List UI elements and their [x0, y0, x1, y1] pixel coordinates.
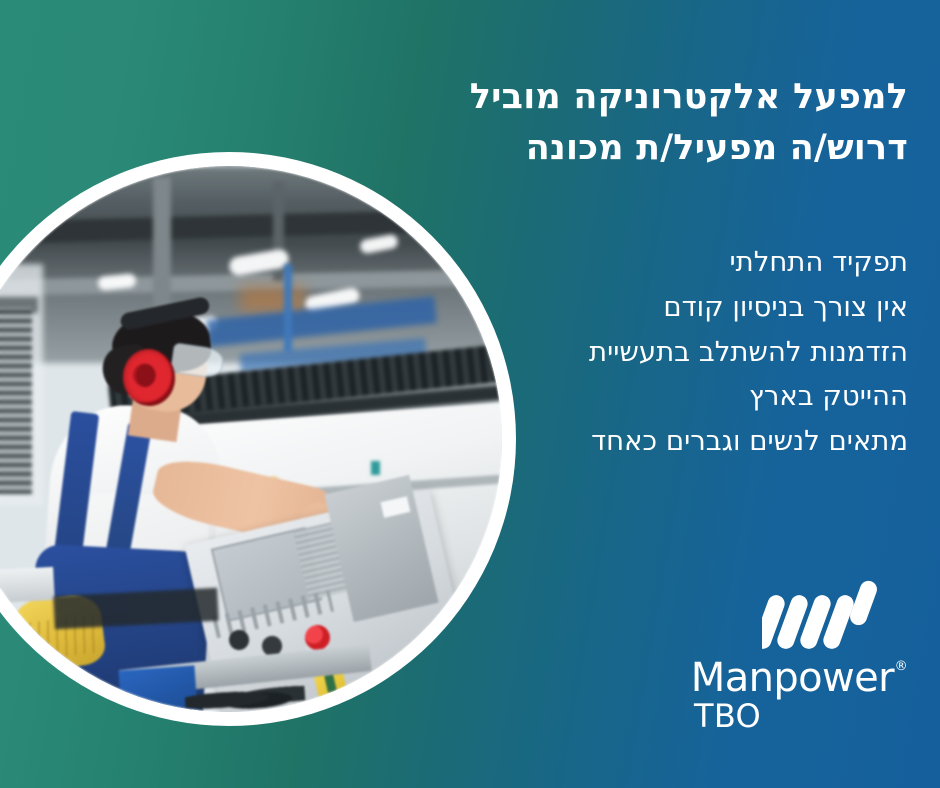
manpower-tbo-logo: Manpower® TBO [694, 578, 894, 733]
registered-trademark-icon: ® [895, 660, 907, 673]
body-copy: תפקיד התחלתי אין צורך בניסיון קודם הזדמנ… [348, 240, 908, 464]
ear-protection-center [136, 364, 155, 387]
body-line-1: תפקיד התחלתי [348, 240, 908, 285]
logo-wordmark-text: Manpower [691, 655, 894, 701]
blue-vertical-post [284, 264, 293, 351]
headline-line-1: למפעל אלקטרוניקה מוביל [348, 72, 908, 123]
headline: למפעל אלקטרוניקה מוביל דרוש/ה מפעיל/ת מכ… [348, 72, 908, 174]
logo-wordmark: Manpower® [691, 658, 894, 699]
left-equipment-slats [0, 308, 32, 494]
background-warm-blur [240, 286, 306, 313]
body-line-5: מתאים לנשים וגברים כאחד [348, 419, 908, 464]
headline-line-2: דרוש/ה מפעיל/ת מכונה [348, 123, 908, 174]
manpower-bars-icon [762, 578, 894, 650]
recruitment-banner: למפעל אלקטרוניקה מוביל דרוש/ה מפעיל/ת מכ… [0, 0, 940, 788]
body-line-4: ההייטק בארץ [348, 374, 908, 419]
logo-sub-brand: TBO [694, 700, 894, 734]
body-line-3: הזדמנות להשתלב בתעשיית [348, 330, 908, 375]
body-line-2: אין צורך בניסיון קודם [348, 285, 908, 330]
